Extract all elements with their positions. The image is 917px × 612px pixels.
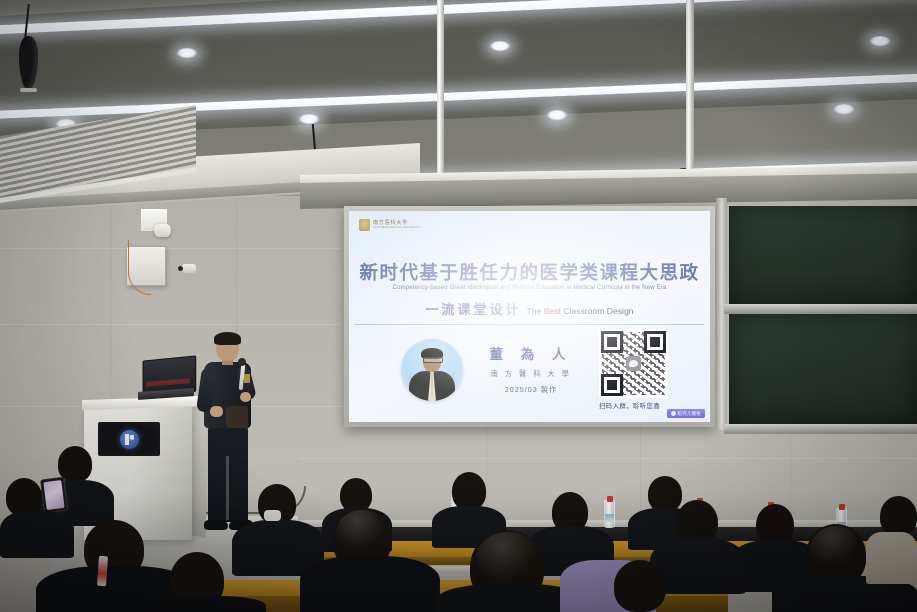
presenter-badge: [244, 374, 250, 383]
wechat-logo-icon: [626, 356, 641, 371]
audience-head-foreground: [614, 560, 666, 612]
speaker-organization: 南 方 醫 科 大 學: [471, 369, 591, 379]
presenter-leg-gap: [226, 456, 229, 520]
presenter: [196, 334, 258, 540]
wall-seam: [0, 248, 340, 249]
lecture-hall-photo: 南方医科大学 SOUTHERN MEDICAL UNIVERSITY 新时代基于…: [0, 0, 917, 612]
qr-caption: 扫码入群，聆听您喜: [599, 401, 673, 410]
audience-head: [880, 496, 917, 536]
slide-title2-en-best: Best: [544, 306, 561, 316]
institution-monogram-icon: [120, 430, 139, 449]
presenter-hand: [240, 392, 251, 402]
qr-finder-icon: [601, 374, 623, 396]
microphone-head-icon: [238, 358, 246, 366]
audience-shoulders: [0, 510, 74, 558]
audience-head: [648, 476, 682, 512]
speaker-date: 2025/03 製作: [471, 385, 591, 395]
portrait-glasses-icon: [423, 357, 443, 363]
audience-head: [340, 478, 372, 512]
slide-divider: [355, 324, 704, 325]
blackboard-rail: [724, 304, 917, 314]
badge-label: 稻壳儿模板: [678, 411, 701, 417]
blackboard-chalk-tray: [724, 424, 917, 434]
presenter-shoe: [204, 520, 228, 530]
smartphone-held-up[interactable]: [40, 477, 68, 514]
podium-display-panel: [98, 422, 160, 456]
qr-code-icon: [599, 329, 668, 398]
university-name-en: SOUTHERN MEDICAL UNIVERSITY: [373, 227, 421, 229]
speaker-portrait-avatar: [401, 339, 463, 401]
audience-shoulders: [300, 556, 440, 612]
audience-head: [452, 472, 486, 510]
badge-icon: [671, 411, 676, 416]
slide-university-logo: 南方医科大学 SOUTHERN MEDICAL UNIVERSITY: [359, 219, 421, 231]
slide-subtitle-en: Competency-based Great Ideological and P…: [349, 284, 710, 291]
audience-shoulders: [146, 596, 266, 612]
downlight: [546, 110, 568, 121]
slide-title2-en-pre: The: [527, 306, 544, 316]
qr-finder-icon: [601, 331, 623, 353]
downlight: [176, 48, 198, 59]
audience-coat: [866, 532, 917, 584]
security-camera-icon: [182, 264, 196, 273]
wall-seam: [300, 458, 917, 459]
qr-finder-icon: [644, 331, 666, 353]
slide-title-zh: 新时代基于胜任力的医学类课程大思政: [349, 259, 710, 285]
dome-camera-icon: [154, 224, 171, 237]
university-crest-icon: [359, 219, 370, 231]
projected-slide: 南方医科大学 SOUTHERN MEDICAL UNIVERSITY 新时代基于…: [349, 211, 710, 422]
projection-screen-frame: 南方医科大学 SOUTHERN MEDICAL UNIVERSITY 新时代基于…: [344, 206, 715, 427]
slide-watermark-badge: 稻壳儿模板: [667, 409, 705, 418]
blackboard-side-frame: [716, 198, 727, 430]
blackboard-panel-upper: [729, 206, 917, 304]
hair-highlight: [336, 510, 388, 554]
face-mask: [264, 510, 281, 521]
presenter-hair: [214, 332, 241, 345]
presenter-hand: [210, 406, 223, 417]
phone-screen: [43, 480, 64, 510]
water-bottle: [604, 500, 615, 528]
blackboard-panel-lower: [729, 314, 917, 424]
slide-secondary-title: 一流课堂设计The Best Classroom Design: [349, 299, 710, 319]
slide-title2-zh: 一流课堂设计: [425, 302, 521, 317]
wall-seam: [0, 324, 340, 325]
downlight: [833, 104, 855, 115]
downlight: [298, 114, 320, 125]
downlight: [869, 36, 891, 47]
downlight: [489, 41, 511, 52]
slide-title2-en-post: Classroom Design: [561, 306, 634, 316]
pod-ring: [20, 88, 37, 92]
ceiling-pole: [686, 0, 694, 182]
presenter-pouch: [226, 406, 248, 428]
hair-highlight: [476, 532, 540, 586]
qr-code-block: 扫码入群，聆听您喜: [599, 329, 673, 410]
hair-highlight: [810, 526, 862, 570]
speaker-name: 董 為 人: [471, 343, 591, 363]
